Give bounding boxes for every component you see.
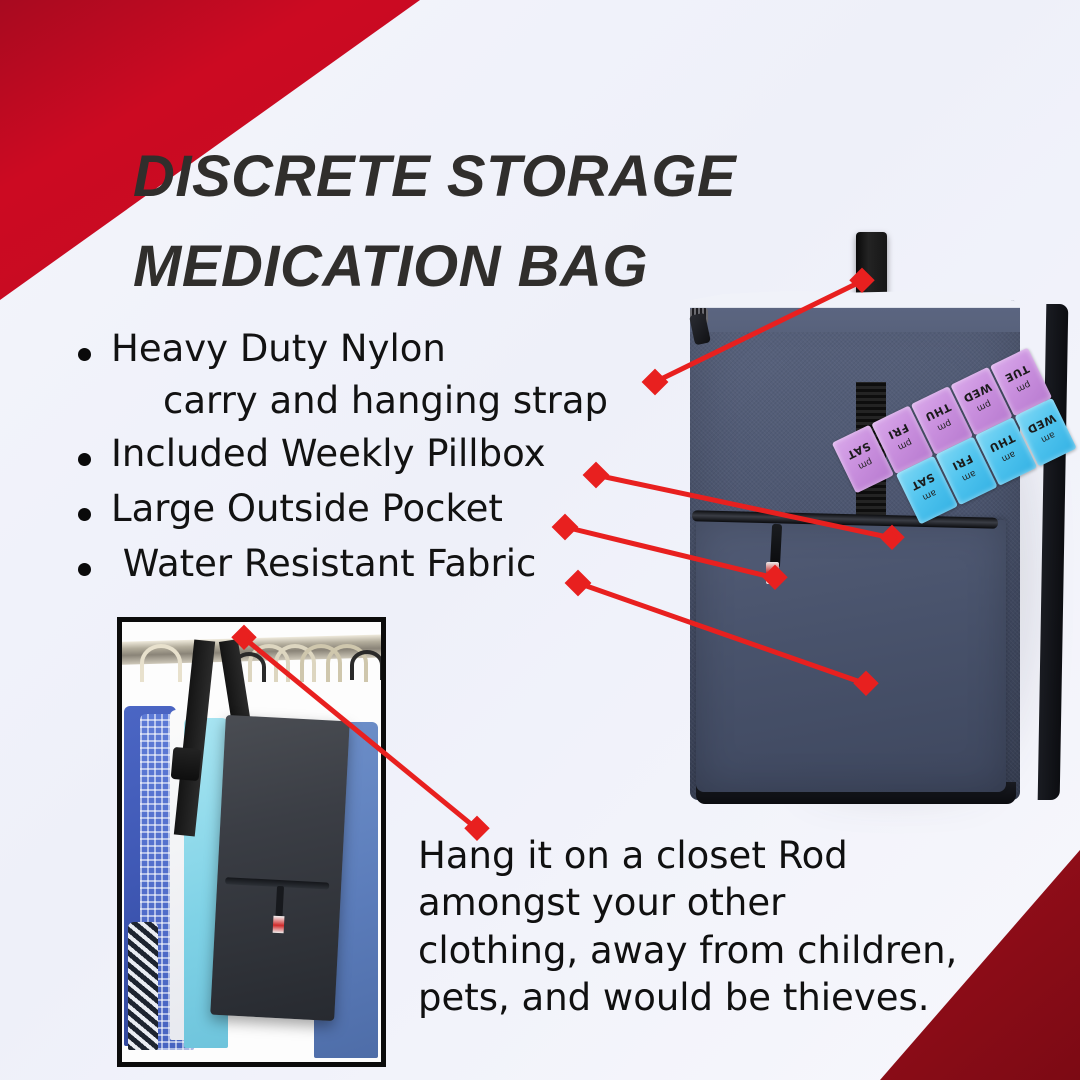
inset-bag-buckle	[171, 747, 202, 781]
outside-pocket	[696, 520, 1006, 792]
feature-label: Heavy Duty Nylon	[111, 330, 678, 367]
list-item: Large Outside Pocket	[78, 490, 678, 527]
feature-label: Included Weekly Pillbox	[111, 435, 678, 472]
feature-label: Large Outside Pocket	[111, 490, 678, 527]
pocket-zipper-tag	[766, 562, 779, 584]
list-item: Included Weekly Pillbox	[78, 435, 678, 472]
list-item: Water Resistant Fabric	[78, 545, 678, 582]
caption-block: Hang it on a closet Rod amongst your oth…	[418, 832, 998, 1021]
closet-inset-photo	[117, 617, 386, 1067]
caption-line-4: pets, and would be thieves.	[418, 974, 998, 1021]
title-line-1: DISCRETE STORAGE	[133, 132, 853, 222]
feature-subline: carry and hanging strap	[163, 382, 678, 419]
bullet-dot-icon	[78, 508, 91, 521]
caption-line-3: clothing, away from children,	[418, 927, 998, 974]
hanger-icon	[140, 644, 182, 682]
feature-list: Heavy Duty Nylon carry and hanging strap…	[78, 330, 678, 597]
inset-bag-tag	[273, 916, 285, 934]
product-infographic: DISCRETE STORAGE MEDICATION BAG Heavy Du…	[0, 0, 1080, 1080]
product-photo: SAT pm FRI pm THU pm WED pm TUE pm	[676, 232, 1072, 832]
caption-line-2: amongst your other	[418, 879, 998, 926]
hanging-tie	[128, 922, 158, 1050]
inset-bag-body	[210, 715, 350, 1021]
list-item: Heavy Duty Nylon	[78, 330, 678, 367]
closet-scene	[122, 622, 381, 1062]
hanger-icon	[350, 650, 384, 680]
bullet-dot-icon	[78, 348, 91, 361]
bullet-dot-icon	[78, 563, 91, 576]
feature-label: Water Resistant Fabric	[111, 545, 678, 582]
caption-line-1: Hang it on a closet Rod	[418, 832, 998, 879]
bag-top-edge	[690, 290, 1020, 332]
bullet-dot-icon	[78, 453, 91, 466]
